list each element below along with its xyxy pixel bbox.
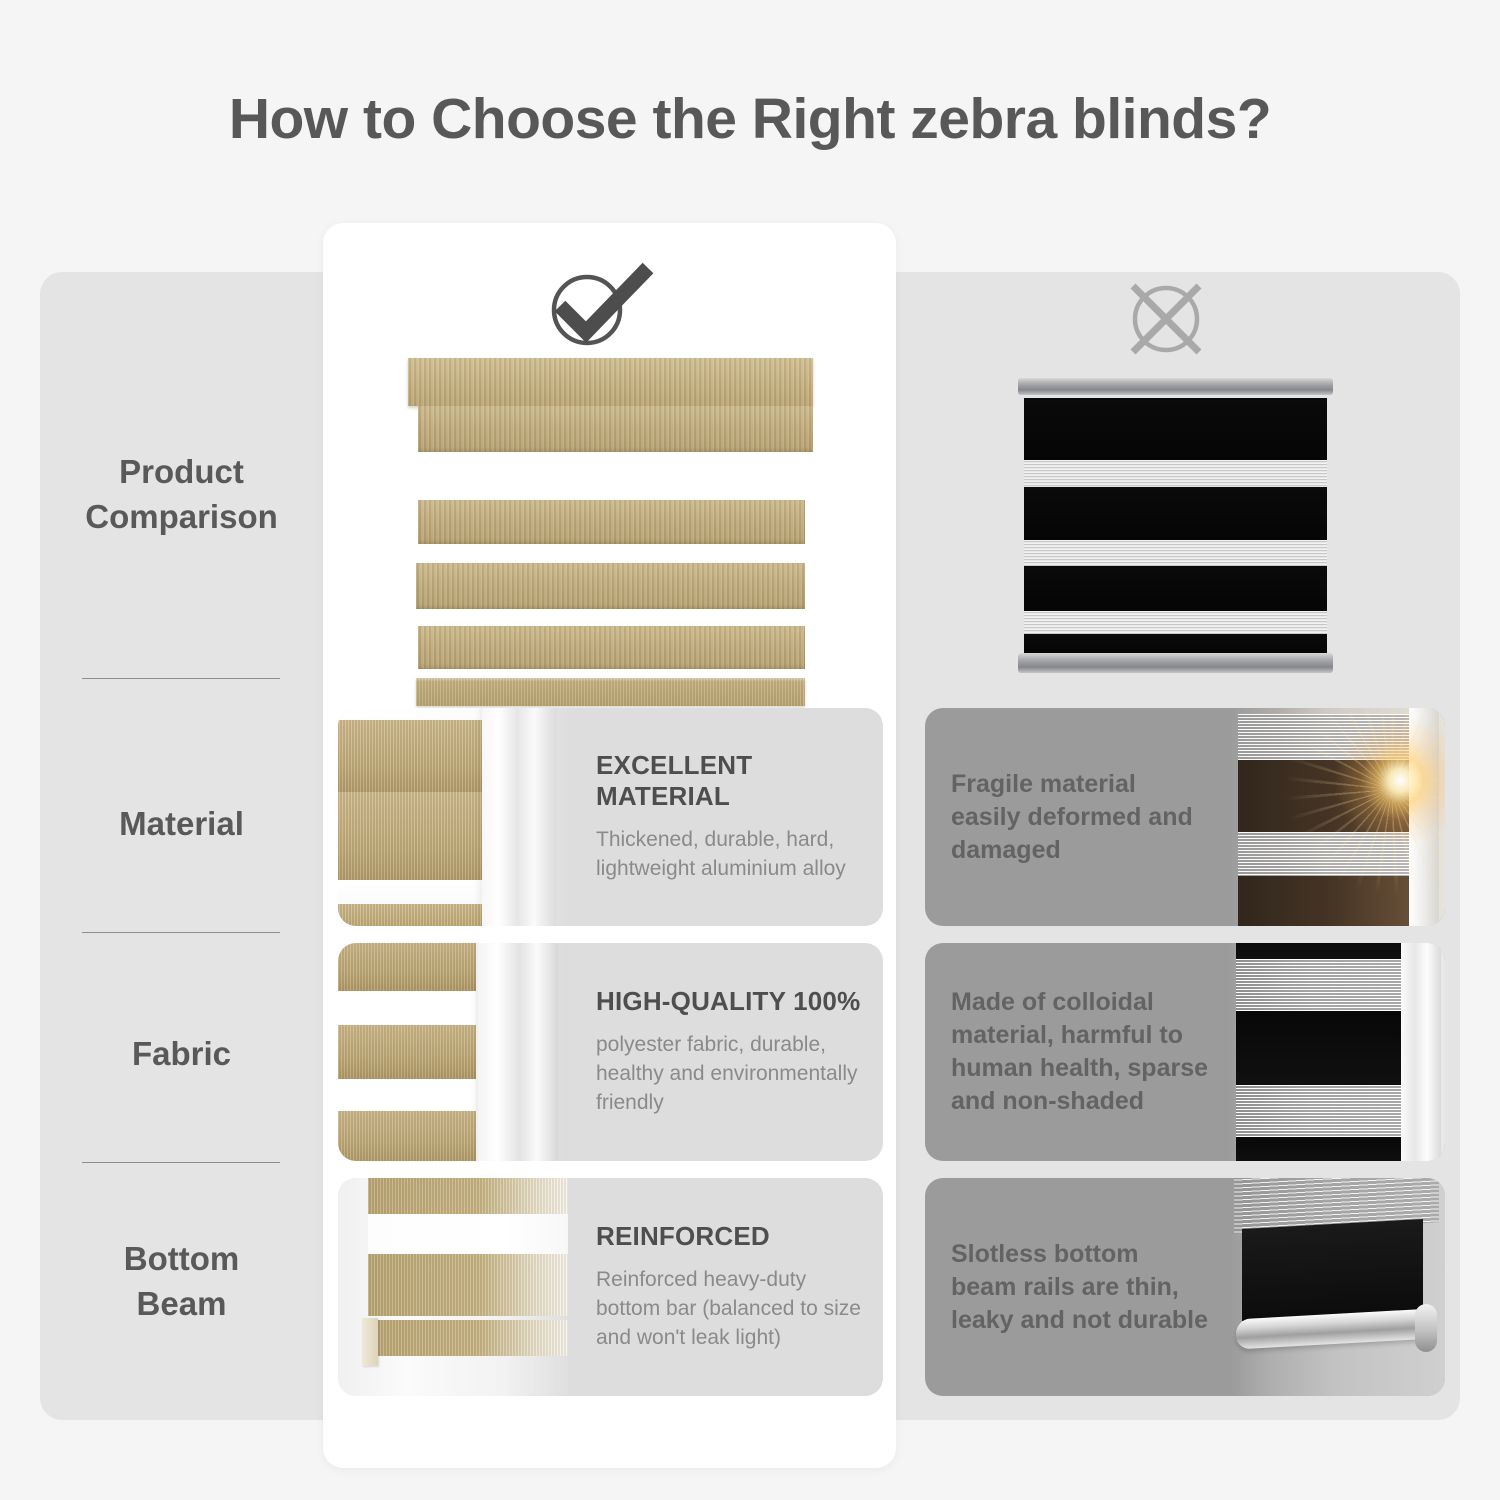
photo-canvas xyxy=(338,1178,568,1396)
blind-slat xyxy=(338,1111,476,1161)
bad-feature-text: Made of colloidal material, harmful to h… xyxy=(925,943,1230,1161)
window-frame xyxy=(478,943,558,1161)
row-divider xyxy=(82,1162,280,1163)
cross-circle-icon xyxy=(1122,278,1210,365)
bad-feature-text: Fragile material easily deformed and dam… xyxy=(925,708,1230,926)
feature-heading: HIGH-QUALITY 100% xyxy=(596,986,863,1017)
blind-light-gap xyxy=(368,1214,568,1254)
blind-headrail xyxy=(1018,378,1333,395)
blind-opaque-band xyxy=(1236,1011,1401,1085)
row-label-bottom-beam: Bottom Beam xyxy=(40,1237,323,1326)
blind-light-gap xyxy=(338,880,482,904)
row-divider xyxy=(82,678,280,679)
window-frame xyxy=(1401,943,1441,1161)
blind-slat xyxy=(416,563,805,609)
blind-slat xyxy=(418,406,813,452)
feature-body: Reinforced heavy-duty bottom bar (balanc… xyxy=(596,1266,863,1353)
blind-opaque-band xyxy=(1238,876,1409,926)
photo-canvas xyxy=(338,708,568,926)
feature-body: Thickened, durable, hard, lightweight al… xyxy=(596,826,863,884)
blind-bottom-bar xyxy=(368,1320,568,1356)
blind-opaque-band xyxy=(1242,1219,1423,1321)
page-title: How to Choose the Right zebra blinds? xyxy=(0,86,1500,152)
feature-body: Slotless bottom beam rails are thin, lea… xyxy=(951,1238,1210,1337)
blind-sheer-band xyxy=(1238,832,1415,876)
feature-heading: REINFORCED xyxy=(596,1221,863,1252)
blind-opaque-band xyxy=(1024,398,1327,460)
blind-slat xyxy=(338,792,482,880)
blind-opaque-band xyxy=(1238,760,1409,832)
blind-sheer-band xyxy=(1236,959,1401,1011)
bottom-bar-end-cap xyxy=(362,1318,378,1366)
good-fabric-photo xyxy=(338,943,568,1161)
photo-canvas xyxy=(1230,708,1445,926)
photo-canvas xyxy=(1230,943,1445,1161)
blind-light-gap xyxy=(338,1079,476,1111)
row-divider xyxy=(82,932,280,933)
blind-bottom-rail xyxy=(1018,653,1333,673)
blind-sheer-band xyxy=(1024,460,1327,487)
good-feature-text: EXCELLENT MATERIAL Thickened, durable, h… xyxy=(568,708,883,926)
window-frame xyxy=(482,708,556,926)
blind-slat xyxy=(338,943,476,991)
bottom-rail-end-cap xyxy=(1415,1304,1437,1352)
blind-slat xyxy=(418,500,805,544)
blind-opaque-band xyxy=(1024,566,1327,611)
row-label-column: Product Comparison Material Fabric Botto… xyxy=(40,272,323,1420)
blind-slat xyxy=(368,1178,568,1214)
blind-slat xyxy=(338,1025,476,1079)
check-circle-icon xyxy=(540,262,655,355)
row-label-line: Fabric xyxy=(40,1032,323,1077)
row-label-line: Material xyxy=(40,802,323,847)
blind-headrail xyxy=(408,358,813,406)
blind-bottom-bar xyxy=(416,678,805,706)
good-feature-card-fabric: HIGH-QUALITY 100% polyester fabric, dura… xyxy=(338,943,883,1161)
blind-light-gap xyxy=(338,991,476,1025)
blind-slat xyxy=(368,1254,568,1316)
good-bottom-beam-photo xyxy=(338,1178,568,1396)
good-feature-text: REINFORCED Reinforced heavy-duty bottom … xyxy=(568,1178,883,1396)
window-frame xyxy=(1409,708,1439,926)
row-label-line: Product Comparison xyxy=(40,450,323,539)
good-feature-card-bottom-beam: REINFORCED Reinforced heavy-duty bottom … xyxy=(338,1178,883,1396)
blind-sheer-band xyxy=(1024,540,1327,566)
bad-feature-text: Slotless bottom beam rails are thin, lea… xyxy=(925,1178,1230,1396)
bad-bottom-beam-photo xyxy=(1230,1178,1445,1396)
feature-body: Made of colloidal material, harmful to h… xyxy=(951,986,1210,1118)
bad-product-hero-image xyxy=(1018,378,1333,673)
blind-opaque-band xyxy=(1024,487,1327,540)
blind-slat xyxy=(338,904,482,926)
bad-feature-card-fabric: Made of colloidal material, harmful to h… xyxy=(925,943,1445,1161)
bad-feature-card-material: Fragile material easily deformed and dam… xyxy=(925,708,1445,926)
blind-opaque-band xyxy=(1236,943,1401,959)
blind-headrail xyxy=(338,720,498,792)
blind-sheer-band xyxy=(1236,1085,1401,1137)
blind-sheer-band xyxy=(1238,714,1415,760)
row-label-line: Bottom Beam xyxy=(40,1237,323,1326)
good-product-hero-image xyxy=(408,358,813,693)
good-material-photo xyxy=(338,708,568,926)
photo-canvas xyxy=(1230,1178,1445,1396)
bad-material-photo xyxy=(1230,708,1445,926)
row-label-material: Material xyxy=(40,802,323,847)
photo-canvas xyxy=(338,943,568,1161)
blind-sheer-band xyxy=(1024,611,1327,634)
row-label-product-comparison: Product Comparison xyxy=(40,450,323,539)
blind-opaque-band xyxy=(1236,1137,1401,1161)
feature-body: Fragile material easily deformed and dam… xyxy=(951,768,1210,867)
feature-body: polyester fabric, durable, healthy and e… xyxy=(596,1031,863,1118)
good-feature-card-material: EXCELLENT MATERIAL Thickened, durable, h… xyxy=(338,708,883,926)
bad-feature-card-bottom-beam: Slotless bottom beam rails are thin, lea… xyxy=(925,1178,1445,1396)
blind-slat xyxy=(418,626,805,669)
feature-heading: EXCELLENT MATERIAL xyxy=(596,750,863,812)
good-feature-text: HIGH-QUALITY 100% polyester fabric, dura… xyxy=(568,943,883,1161)
bad-fabric-photo xyxy=(1230,943,1445,1161)
row-label-fabric: Fabric xyxy=(40,1032,323,1077)
